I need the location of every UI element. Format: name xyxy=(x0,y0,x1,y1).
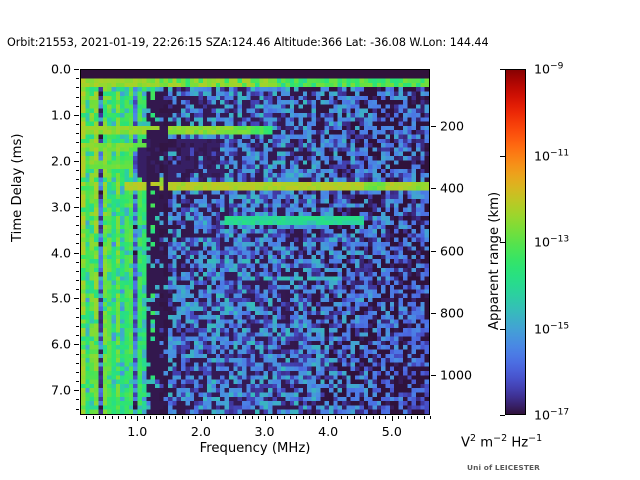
x-tick-minor xyxy=(366,416,367,419)
y-tick-major xyxy=(74,344,79,345)
x-tick-minor xyxy=(144,416,145,419)
y-tick-major xyxy=(74,253,79,254)
x-tick-minor xyxy=(252,416,253,419)
x-tick-major xyxy=(328,416,329,421)
x-tick-minor xyxy=(131,416,132,419)
x-tick-minor xyxy=(118,416,119,419)
x-tick-minor xyxy=(379,416,380,419)
x-tick-minor xyxy=(277,416,278,419)
x-tick-minor xyxy=(182,416,183,419)
x-tick-minor xyxy=(322,416,323,419)
y-tick-label: 6.0 xyxy=(51,337,71,352)
x-tick-minor xyxy=(290,416,291,419)
x-tick-minor xyxy=(258,416,259,419)
y2-tick-major xyxy=(431,251,436,252)
y-tick-minor xyxy=(76,289,79,290)
x-tick-minor xyxy=(188,416,189,419)
y2-tick-major xyxy=(431,188,436,189)
x-tick-minor xyxy=(245,416,246,419)
y-tick-major xyxy=(74,390,79,391)
x-tick-minor xyxy=(360,416,361,419)
x-tick-minor xyxy=(239,416,240,419)
x-tick-label: 4.0 xyxy=(318,424,338,439)
y-tick-label: 5.0 xyxy=(51,291,71,306)
x-tick-minor xyxy=(99,416,100,419)
y-tick-minor xyxy=(76,152,79,153)
y-axis-label: Time Delay (ms) xyxy=(10,134,25,242)
y-tick-label: 4.0 xyxy=(51,245,71,260)
colorbar xyxy=(505,69,526,415)
x-tick-minor xyxy=(105,416,106,419)
x-tick-label: 5.0 xyxy=(382,424,402,439)
y-tick-minor xyxy=(76,280,79,281)
x-tick-minor xyxy=(309,416,310,419)
x-tick-major xyxy=(265,416,266,421)
y-tick-label: 7.0 xyxy=(51,383,71,398)
colorbar-tick-label: 10−17 xyxy=(534,407,569,422)
page-title: Orbit:21553, 2021-01-19, 22:26:15 SZA:12… xyxy=(7,36,489,49)
x-tick-minor xyxy=(163,416,164,419)
colorbar-tick-label: 10−13 xyxy=(534,234,569,249)
x-tick-minor xyxy=(347,416,348,419)
x-tick-minor xyxy=(112,416,113,419)
x-tick-minor xyxy=(195,416,196,419)
y-tick-major xyxy=(74,115,79,116)
x-tick-minor xyxy=(411,416,412,419)
y2-tick-major xyxy=(431,375,436,376)
x-tick-minor xyxy=(296,416,297,419)
x-tick-minor xyxy=(86,416,87,419)
colorbar-units-label: V2 m−2 Hz−1 xyxy=(461,433,542,450)
x-tick-minor xyxy=(125,416,126,419)
y2-tick-label: 1000 xyxy=(440,367,472,382)
x-tick-label: 1.0 xyxy=(127,424,147,439)
y-tick-minor xyxy=(76,170,79,171)
y-tick-minor xyxy=(76,262,79,263)
y-tick-major xyxy=(74,69,79,70)
x-tick-minor xyxy=(284,416,285,419)
x-tick-minor xyxy=(424,416,425,419)
y-tick-minor xyxy=(76,133,79,134)
x-tick-minor xyxy=(335,416,336,419)
y-tick-minor xyxy=(76,197,79,198)
y2-tick-label: 800 xyxy=(440,305,464,320)
x-tick-minor xyxy=(93,416,94,419)
y-tick-minor xyxy=(76,363,79,364)
x-tick-minor xyxy=(175,416,176,419)
x-tick-major xyxy=(201,416,202,421)
y-tick-major xyxy=(74,298,79,299)
x-tick-minor xyxy=(315,416,316,419)
y-tick-label: 2.0 xyxy=(51,153,71,168)
x-tick-minor xyxy=(220,416,221,419)
y-tick-minor xyxy=(76,142,79,143)
y-tick-minor xyxy=(76,354,79,355)
x-tick-minor xyxy=(385,416,386,419)
x-tick-minor xyxy=(150,416,151,419)
x-tick-minor xyxy=(417,416,418,419)
y2-tick-major xyxy=(431,126,436,127)
y-tick-minor xyxy=(76,188,79,189)
x-tick-minor xyxy=(214,416,215,419)
y-tick-minor xyxy=(76,381,79,382)
y-tick-major xyxy=(74,161,79,162)
x-tick-label: 3.0 xyxy=(255,424,275,439)
y2-tick-label: 400 xyxy=(440,181,464,196)
colorbar-tick-label: 10−15 xyxy=(534,321,569,336)
y-tick-major xyxy=(74,207,79,208)
y-tick-minor xyxy=(76,78,79,79)
y2-tick-label: 600 xyxy=(440,243,464,258)
x-tick-minor xyxy=(354,416,355,419)
y2-tick-label: 200 xyxy=(440,119,464,134)
y-tick-label: 3.0 xyxy=(51,199,71,214)
colorbar-tick xyxy=(500,415,505,416)
y-tick-minor xyxy=(76,409,79,410)
x-tick-minor xyxy=(226,416,227,419)
x-tick-minor xyxy=(430,416,431,419)
y-tick-minor xyxy=(76,179,79,180)
y-tick-minor xyxy=(76,216,79,217)
y-tick-minor xyxy=(76,225,79,226)
y-tick-minor xyxy=(76,335,79,336)
y-tick-minor xyxy=(76,271,79,272)
y-tick-minor xyxy=(76,317,79,318)
y-tick-minor xyxy=(76,97,79,98)
y-tick-minor xyxy=(76,106,79,107)
x-tick-minor xyxy=(271,416,272,419)
credit-label: Uni of LEICESTER xyxy=(467,463,540,472)
y-tick-label: 0.0 xyxy=(51,62,71,77)
x-tick-minor xyxy=(233,416,234,419)
x-tick-minor xyxy=(341,416,342,419)
colorbar-gradient xyxy=(506,70,525,414)
x-tick-minor xyxy=(398,416,399,419)
y-tick-minor xyxy=(76,243,79,244)
y-tick-label: 1.0 xyxy=(51,107,71,122)
ionogram-plot-area xyxy=(80,69,430,415)
x-tick-major xyxy=(137,416,138,421)
y-tick-minor xyxy=(76,124,79,125)
x-tick-label: 2.0 xyxy=(191,424,211,439)
x-axis-label: Frequency (MHz) xyxy=(200,441,311,456)
y-tick-minor xyxy=(76,372,79,373)
colorbar-tick-label: 10−9 xyxy=(534,61,563,76)
x-tick-minor xyxy=(373,416,374,419)
y-tick-minor xyxy=(76,399,79,400)
ionogram-heatmap xyxy=(81,70,429,414)
y2-tick-major xyxy=(431,313,436,314)
x-tick-major xyxy=(392,416,393,421)
x-tick-minor xyxy=(169,416,170,419)
y-tick-minor xyxy=(76,326,79,327)
x-tick-minor xyxy=(303,416,304,419)
y2-axis-label: Apparent range (km) xyxy=(487,192,502,330)
x-tick-minor xyxy=(405,416,406,419)
colorbar-tick-label: 10−11 xyxy=(534,148,569,163)
x-tick-minor xyxy=(207,416,208,419)
y-tick-minor xyxy=(76,308,79,309)
x-tick-minor xyxy=(156,416,157,419)
y-tick-minor xyxy=(76,234,79,235)
y-tick-minor xyxy=(76,87,79,88)
